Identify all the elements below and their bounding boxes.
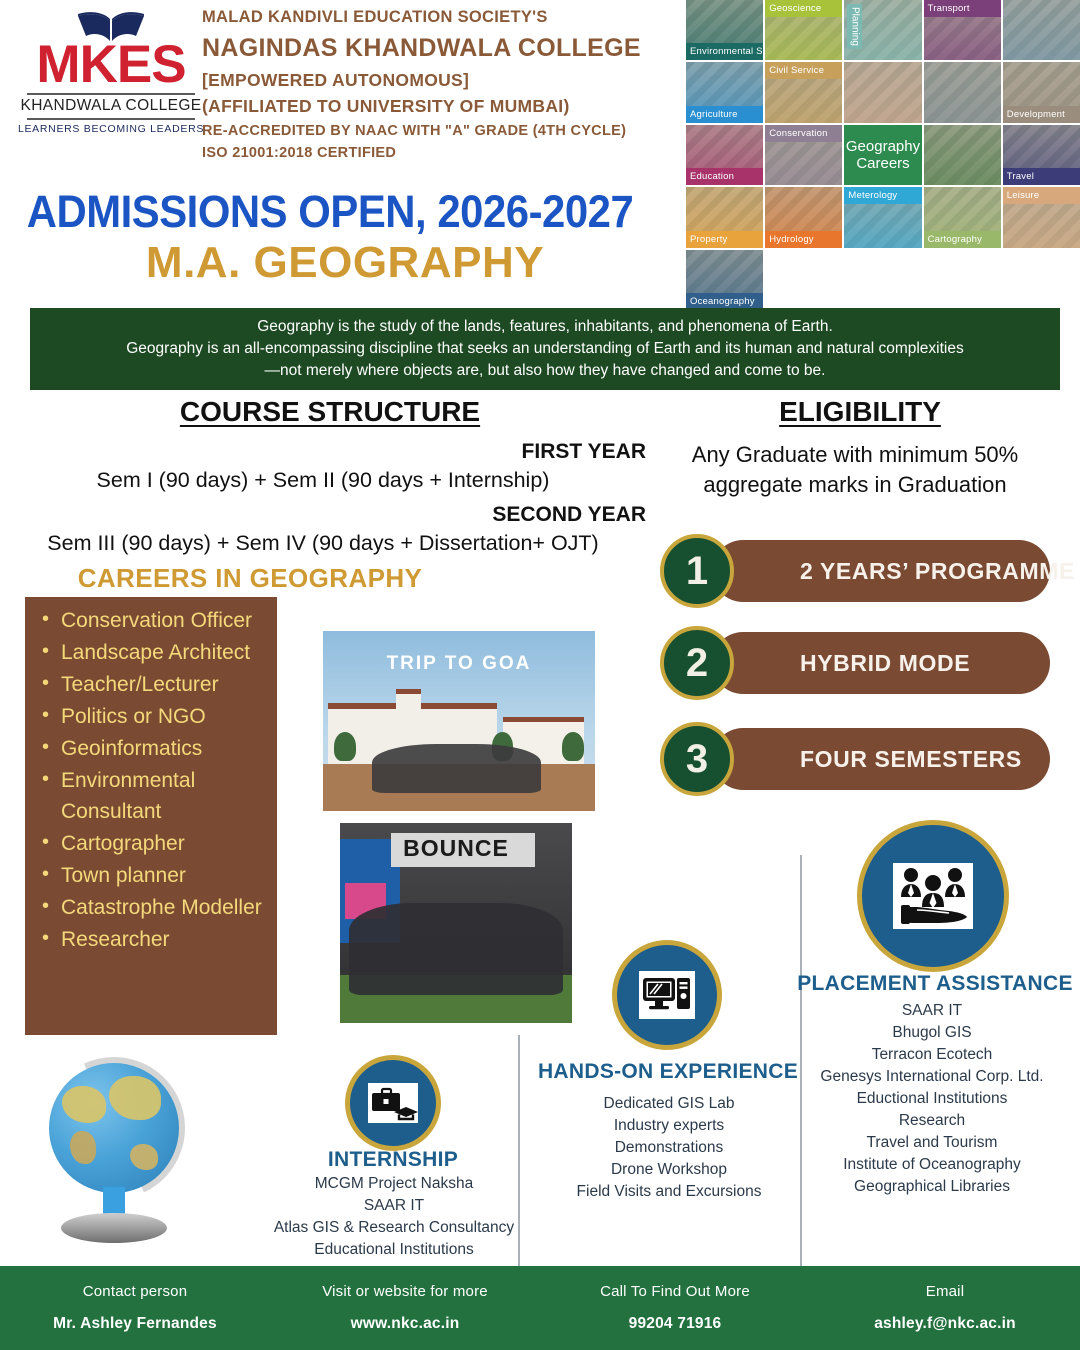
collage-tile	[924, 62, 1001, 122]
collage-tile: Conservation	[765, 125, 842, 185]
logo-divider-bottom	[27, 118, 195, 120]
placement-item: Research	[782, 1110, 1080, 1132]
placement-item: SAAR IT	[782, 1000, 1080, 1022]
collage-tile-label: Leisure	[1003, 187, 1080, 204]
hands-on-item: Field Visits and Excursions	[510, 1181, 828, 1203]
logo-college-name: KHANDWALA COLLEGE	[20, 97, 201, 115]
footer-label: Email	[926, 1283, 965, 1300]
description-line-2: Geography is an all-encompassing discipl…	[126, 338, 964, 360]
career-item: Landscape Architect	[39, 637, 269, 669]
career-item: Researcher	[39, 924, 269, 956]
mkes-logo: MKES KHANDWALA COLLEGE LEARNERS BECOMING…	[22, 6, 200, 146]
logo-acronym: MKES	[36, 40, 185, 90]
footer-column: Contact personMr. Ashley Fernandes	[0, 1266, 270, 1350]
collage-tile: Oceanography	[686, 250, 763, 310]
placement-item: Bhugol GIS	[782, 1022, 1080, 1044]
placement-item: Institute of Oceanography	[782, 1154, 1080, 1176]
collage-tile-label: Planning	[847, 4, 862, 49]
hands-on-item: Industry experts	[510, 1115, 828, 1137]
autonomous-status: [EMPOWERED AUTONOMOUS]	[202, 70, 692, 91]
geography-careers-collage: Environmental ScienceGeosciencePlanningT…	[686, 0, 1080, 310]
computer-icon	[639, 971, 695, 1019]
society-name: MALAD KANDIVLI EDUCATION SOCIETY'S	[202, 8, 692, 27]
institution-details: MALAD KANDIVLI EDUCATION SOCIETY'S NAGIN…	[202, 8, 692, 161]
collage-tile: Cartography	[924, 187, 1001, 247]
collage-tile-image	[1003, 0, 1080, 60]
footer-value[interactable]: Mr. Ashley Fernandes	[53, 1315, 217, 1333]
placement-item: Travel and Tourism	[782, 1132, 1080, 1154]
goa-caption: TRIP TO GOA	[323, 653, 595, 675]
goa-tree	[562, 732, 584, 761]
footer-column: Call To Find Out More99204 71916	[540, 1266, 810, 1350]
placement-item: Genesys International Corp. Ltd.	[782, 1066, 1080, 1088]
collage-tile	[844, 62, 921, 122]
footer-value[interactable]: www.nkc.ac.in	[351, 1315, 460, 1333]
hands-on-item: Demonstrations	[510, 1137, 828, 1159]
highlight-number-1: 1	[660, 534, 734, 608]
bounce-caption: BOUNCE	[340, 835, 572, 862]
affiliation: (AFFILIATED TO UNIVERSITY OF MUMBAI)	[202, 96, 692, 117]
collage-tile: Meterology	[844, 187, 921, 247]
eligibility-text: Any Graduate with minimum 50% aggregate …	[650, 440, 1060, 499]
goa-student-group	[372, 744, 541, 793]
briefcase-graduation-icon	[368, 1083, 418, 1123]
collage-tile: Development	[1003, 62, 1080, 122]
highlight-pill-1: 2 YEARS’ PROGRAMME	[712, 540, 1050, 602]
collage-tile-image	[844, 62, 921, 122]
programme-title: M.A. GEOGRAPHY	[0, 238, 690, 288]
placement-items: SAAR ITBhugol GISTerracon EcotechGenesys…	[782, 1000, 1080, 1198]
second-year-detail: Sem III (90 days) + Sem IV (90 days + Di…	[0, 531, 646, 556]
collage-tile	[1003, 0, 1080, 60]
collage-tile-image	[924, 125, 1001, 185]
highlight-pill-2: HYBRID MODE	[712, 632, 1050, 694]
geography-description-banner: Geography is the study of the lands, fea…	[30, 308, 1060, 390]
footer-column: Emailashley.f@nkc.ac.in	[810, 1266, 1080, 1350]
globe-sphere	[49, 1063, 179, 1193]
globe-landmass	[70, 1131, 96, 1165]
collage-tile-label: Agriculture	[686, 106, 763, 123]
second-year-label: SECOND YEAR	[0, 503, 646, 527]
collage-tile: Property	[686, 187, 763, 247]
globe-illustration	[25, 1055, 225, 1260]
collage-tile-label: Geoscience	[765, 0, 842, 17]
internship-item: Atlas GIS & Research Consultancy	[240, 1217, 548, 1239]
collage-tile-label: Meterology	[844, 187, 921, 204]
collage-tile: Civil Service	[765, 62, 842, 122]
hands-on-title: HANDS-ON EXPERIENCE	[520, 1060, 816, 1084]
collage-tile-label: Hydrology	[765, 231, 842, 248]
career-item: Teacher/Lecturer	[39, 669, 269, 701]
hands-on-items: Dedicated GIS LabIndustry expertsDemonst…	[510, 1093, 828, 1203]
hands-on-icon-badge	[612, 940, 722, 1050]
footer-value[interactable]: ashley.f@nkc.ac.in	[874, 1315, 1016, 1333]
hands-on-item: Dedicated GIS Lab	[510, 1093, 828, 1115]
collage-tile: Agriculture	[686, 62, 763, 122]
placement-icon-badge	[857, 820, 1009, 972]
globe-landmass	[130, 1144, 159, 1170]
footer-label: Contact person	[83, 1283, 188, 1300]
footer-label: Call To Find Out More	[600, 1283, 750, 1300]
footer-label: Visit or website for more	[322, 1283, 488, 1300]
footer-column: Visit or website for morewww.nkc.ac.in	[270, 1266, 540, 1350]
collage-tile-label: Cartography	[924, 231, 1001, 248]
placement-title: PLACEMENT ASSISTANCE	[790, 972, 1080, 996]
course-structure-heading: COURSE STRUCTURE	[0, 396, 660, 428]
collage-tile: Planning	[844, 0, 921, 60]
iso-certification: ISO 21001:2018 CERTIFIED	[202, 145, 692, 161]
first-year-detail: Sem I (90 days) + Sem II (90 days + Inte…	[0, 468, 646, 493]
collage-tile-label: Education	[686, 168, 763, 185]
highlight-label-3: FOUR SEMESTERS	[800, 746, 1022, 773]
internship-title: INTERNSHIP	[268, 1148, 518, 1172]
bounce-student-group	[349, 903, 562, 995]
collage-tile-label: Travel	[1003, 168, 1080, 185]
internship-item: MCGM Project Naksha	[240, 1173, 548, 1195]
career-item: Politics or NGO	[39, 701, 269, 733]
collage-tile: Travel	[1003, 125, 1080, 185]
highlight-pill-3: FOUR SEMESTERS	[712, 728, 1050, 790]
admissions-title: ADMISSIONS OPEN, 2026-2027	[23, 186, 637, 238]
highlight-number-3: 3	[660, 722, 734, 796]
hands-on-item: Drone Workshop	[510, 1159, 828, 1181]
internship-icon-badge	[345, 1055, 441, 1151]
contact-footer: Contact personMr. Ashley FernandesVisit …	[0, 1266, 1080, 1350]
career-item: Cartographer	[39, 828, 269, 860]
collage-tile-label: Property	[686, 231, 763, 248]
placement-icon-svg	[893, 863, 973, 929]
placement-hand-people-icon	[893, 863, 973, 929]
career-item: Town planner	[39, 860, 269, 892]
goa-tree	[334, 732, 356, 761]
collage-tile-label: Civil Service	[765, 62, 842, 79]
first-year-label: FIRST YEAR	[0, 440, 646, 464]
collage-tile: Education	[686, 125, 763, 185]
eligibility-heading: ELIGIBILITY	[660, 396, 1060, 428]
globe-base	[61, 1213, 167, 1243]
collage-center-label: Geography Careers	[844, 125, 921, 185]
logo-divider-top	[27, 93, 195, 95]
career-item: Catastrophe Modeller	[39, 892, 269, 924]
collage-tile: Transport	[924, 0, 1001, 60]
goa-church-tower	[396, 689, 420, 711]
collage-tile: Hydrology	[765, 187, 842, 247]
placement-item: Terracon Ecotech	[782, 1044, 1080, 1066]
placement-item: Geographical Libraries	[782, 1176, 1080, 1198]
college-name: NAGINDAS KHANDWALA COLLEGE	[202, 34, 692, 63]
description-line-1: Geography is the study of the lands, fea…	[257, 316, 833, 338]
description-line-3: —not merely where objects are, but also …	[265, 360, 826, 382]
collage-tile-label: Conservation	[765, 125, 842, 142]
highlight-label-1: 2 YEARS’ PROGRAMME	[800, 558, 1075, 585]
bounce-trip-photo: BOUNCE	[340, 823, 572, 1023]
goa-trip-photo: TRIP TO GOA	[323, 631, 595, 811]
collage-tile-label: Development	[1003, 106, 1080, 123]
career-item: Geoinformatics	[39, 733, 269, 765]
highlight-number-2: 2	[660, 626, 734, 700]
globe-landmass	[62, 1086, 106, 1122]
globe-landmass	[109, 1076, 161, 1120]
collage-tile: Geoscience	[765, 0, 842, 60]
internship-item: SAAR IT	[240, 1195, 548, 1217]
briefcase-icon-svg	[368, 1083, 418, 1123]
naac-accreditation: RE-ACCREDITED BY NAAC WITH "A" GRADE (4T…	[202, 123, 692, 139]
career-item: Environmental Consultant	[39, 765, 269, 829]
careers-list-box: Conservation OfficerLandscape ArchitectT…	[25, 597, 277, 1035]
computer-icon-svg	[639, 971, 695, 1019]
highlight-label-2: HYBRID MODE	[800, 650, 970, 677]
admissions-poster: MKES KHANDWALA COLLEGE LEARNERS BECOMING…	[0, 0, 1080, 1350]
collage-tile-image	[924, 62, 1001, 122]
career-item: Conservation Officer	[39, 605, 269, 637]
logo-tagline: LEARNERS BECOMING LEADERS	[18, 123, 204, 135]
collage-tile: Environmental Science	[686, 0, 763, 60]
internship-item: Educational Institutions	[240, 1239, 548, 1261]
careers-list: Conservation OfficerLandscape ArchitectT…	[39, 605, 269, 956]
placement-item: Eductional Institutions	[782, 1088, 1080, 1110]
internship-items: MCGM Project NakshaSAAR ITAtlas GIS & Re…	[240, 1173, 548, 1261]
collage-tile: Leisure	[1003, 187, 1080, 247]
careers-heading: CAREERS IN GEOGRAPHY	[0, 563, 500, 594]
collage-tile-label: Transport	[924, 0, 1001, 17]
collage-tile-label: Environmental Science	[686, 43, 763, 60]
collage-tile	[924, 125, 1001, 185]
footer-value[interactable]: 99204 71916	[629, 1315, 722, 1333]
